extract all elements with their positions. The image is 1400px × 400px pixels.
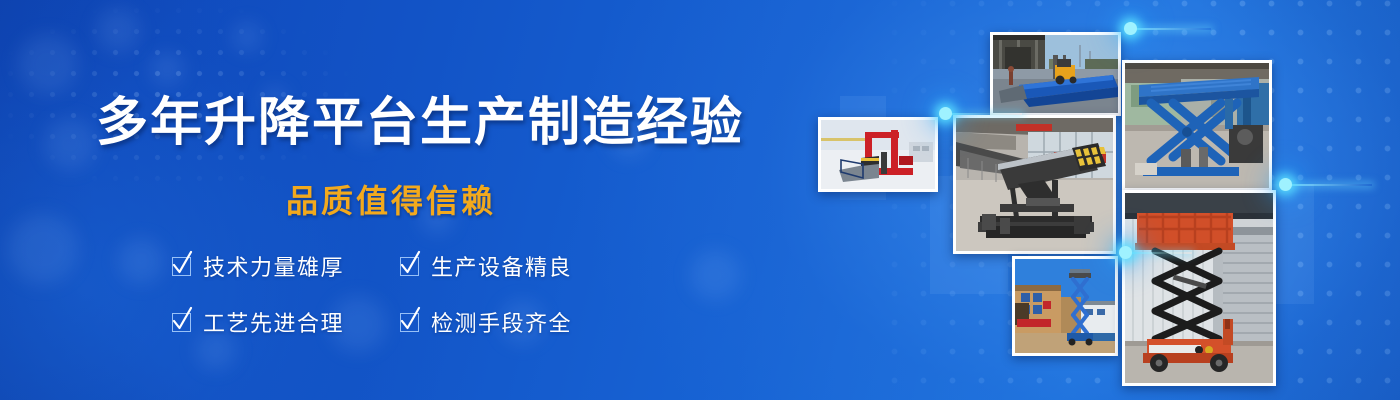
feature-label: 工艺先进合理 [203, 306, 344, 338]
glow-accent-dot [1119, 246, 1132, 259]
bokeh-circle [8, 214, 78, 284]
product-photo-grey-dock-leveler-in-factory[interactable] [953, 115, 1116, 254]
subtitle: 品质值得信赖 [286, 176, 496, 222]
glow-accent-dot [1279, 178, 1292, 191]
glow-accent-dot [1124, 22, 1137, 35]
page-title: 多年升降平台生产制造经验 [96, 96, 744, 151]
bokeh-circle [690, 250, 740, 300]
feature-label: 生产设备精良 [431, 250, 572, 282]
glow-streak [942, 113, 1022, 115]
product-photo-orange-self-propelled-scissor-lift[interactable] [1122, 190, 1276, 386]
glow-streak [1125, 28, 1211, 30]
product-photo-blue-mobile-scissor-lift-outdoors[interactable] [1012, 256, 1118, 356]
product-photo-blue-loading-ramp-with-forklift[interactable] [990, 32, 1121, 116]
product-photo-red-hydraulic-lift-platform[interactable] [818, 117, 938, 192]
promo-banner: 多年升降平台生产制造经验 品质值得信赖 技术力量雄厚 生产设备精良 工艺先进合理 [0, 0, 1400, 400]
feature-list: 技术力量雄厚 生产设备精良 工艺先进合理 检测手段齐全 [172, 238, 628, 350]
checkbox-checked-icon [172, 313, 191, 332]
glow-streak [1280, 184, 1372, 186]
glow-accent-dot [939, 107, 952, 120]
checkbox-checked-icon [172, 257, 191, 276]
feature-label: 技术力量雄厚 [203, 250, 344, 282]
feature-item-1: 技术力量雄厚 [172, 238, 400, 294]
checkbox-checked-icon [400, 257, 419, 276]
feature-label: 检测手段齐全 [431, 306, 572, 338]
glow-streak [1122, 252, 1192, 254]
feature-item-2: 生产设备精良 [400, 238, 628, 294]
bokeh-circle [118, 238, 164, 284]
feature-item-3: 工艺先进合理 [172, 294, 400, 350]
product-photo-blue-scissor-lift-table[interactable] [1122, 60, 1272, 191]
checkbox-checked-icon [400, 313, 419, 332]
feature-item-4: 检测手段齐全 [400, 294, 628, 350]
